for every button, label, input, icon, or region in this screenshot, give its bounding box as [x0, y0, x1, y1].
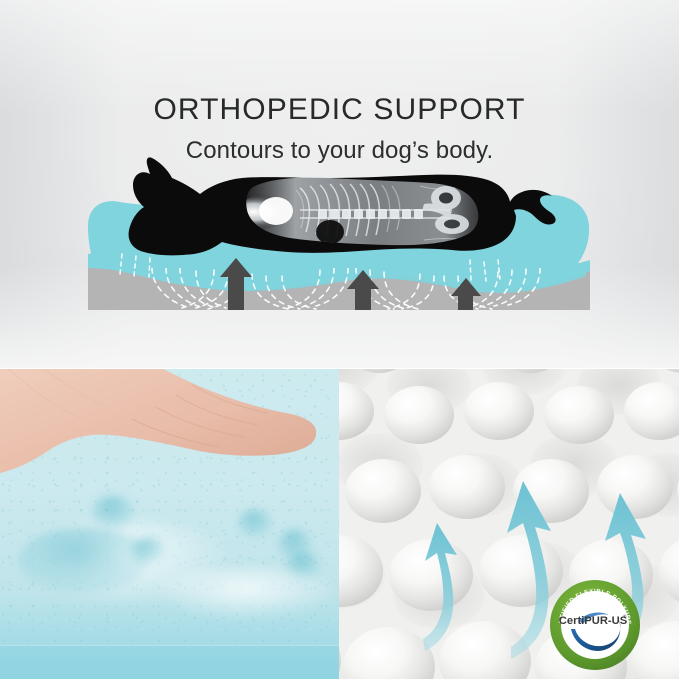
- infographic-canvas: ORTHOPEDIC SUPPORT Contours to your dog’…: [0, 0, 679, 679]
- dog-xray-on-foam-cross-section: [0, 150, 679, 325]
- hand-pressing-foam: [0, 369, 316, 549]
- rebound-arrow-2: [507, 481, 551, 659]
- memory-foam-bottom-edge: [0, 645, 339, 679]
- rebound-arrow-1: [423, 523, 457, 651]
- badge-wordmark: CertiPUR-US: [559, 615, 628, 627]
- support-base-layer: [88, 268, 590, 310]
- memory-foam-photo: [0, 369, 339, 679]
- orthopedic-support-panel: ORTHOPEDIC SUPPORT Contours to your dog’…: [0, 0, 679, 369]
- foam-ridge-highlight-2: [150, 567, 339, 621]
- orthopedic-support-title: ORTHOPEDIC SUPPORT: [0, 93, 679, 127]
- certipur-us-badge: CONTAINS CERTIFIED FLEXIBLE POLYURETHANE…: [549, 579, 641, 671]
- dog-silhouette: [129, 157, 556, 255]
